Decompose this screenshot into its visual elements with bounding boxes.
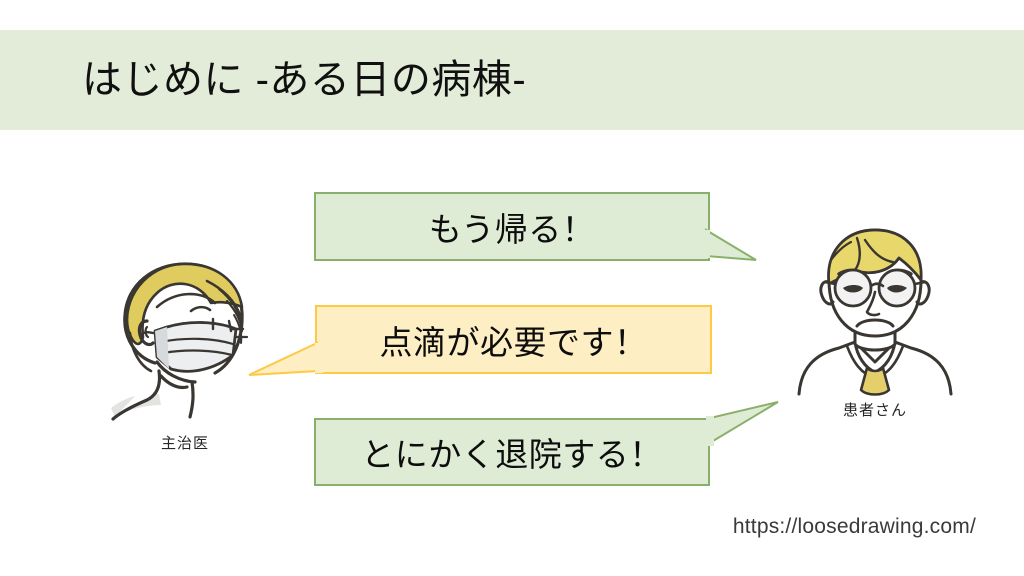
speech-bubble-3-text: とにかく退院する！ — [361, 428, 663, 476]
speech-bubble-1-text: もう帰る！ — [429, 203, 596, 251]
speech-bubble-1-tail — [706, 230, 766, 266]
speech-bubble-2-tail — [247, 343, 323, 383]
speech-bubble-2-text: 点滴が必要です！ — [380, 316, 648, 364]
doctor-label: 主治医 — [95, 432, 275, 453]
slide-canvas: はじめに -ある日の病棟- — [0, 0, 1024, 576]
source-url: https://loosedrawing.com/ — [733, 515, 976, 539]
doctor-illustration — [95, 245, 275, 430]
speech-bubble-2: 点滴が必要です！ — [315, 305, 712, 374]
character-patient: 患者さん — [795, 222, 955, 420]
speech-bubble-3: とにかく退院する！ — [314, 418, 710, 486]
page-title: はじめに -ある日の病棟- — [82, 47, 526, 113]
speech-bubble-3-tail — [706, 400, 786, 448]
speech-bubble-1: もう帰る！ — [314, 192, 710, 261]
patient-illustration — [795, 222, 955, 397]
patient-label: 患者さん — [795, 399, 955, 420]
